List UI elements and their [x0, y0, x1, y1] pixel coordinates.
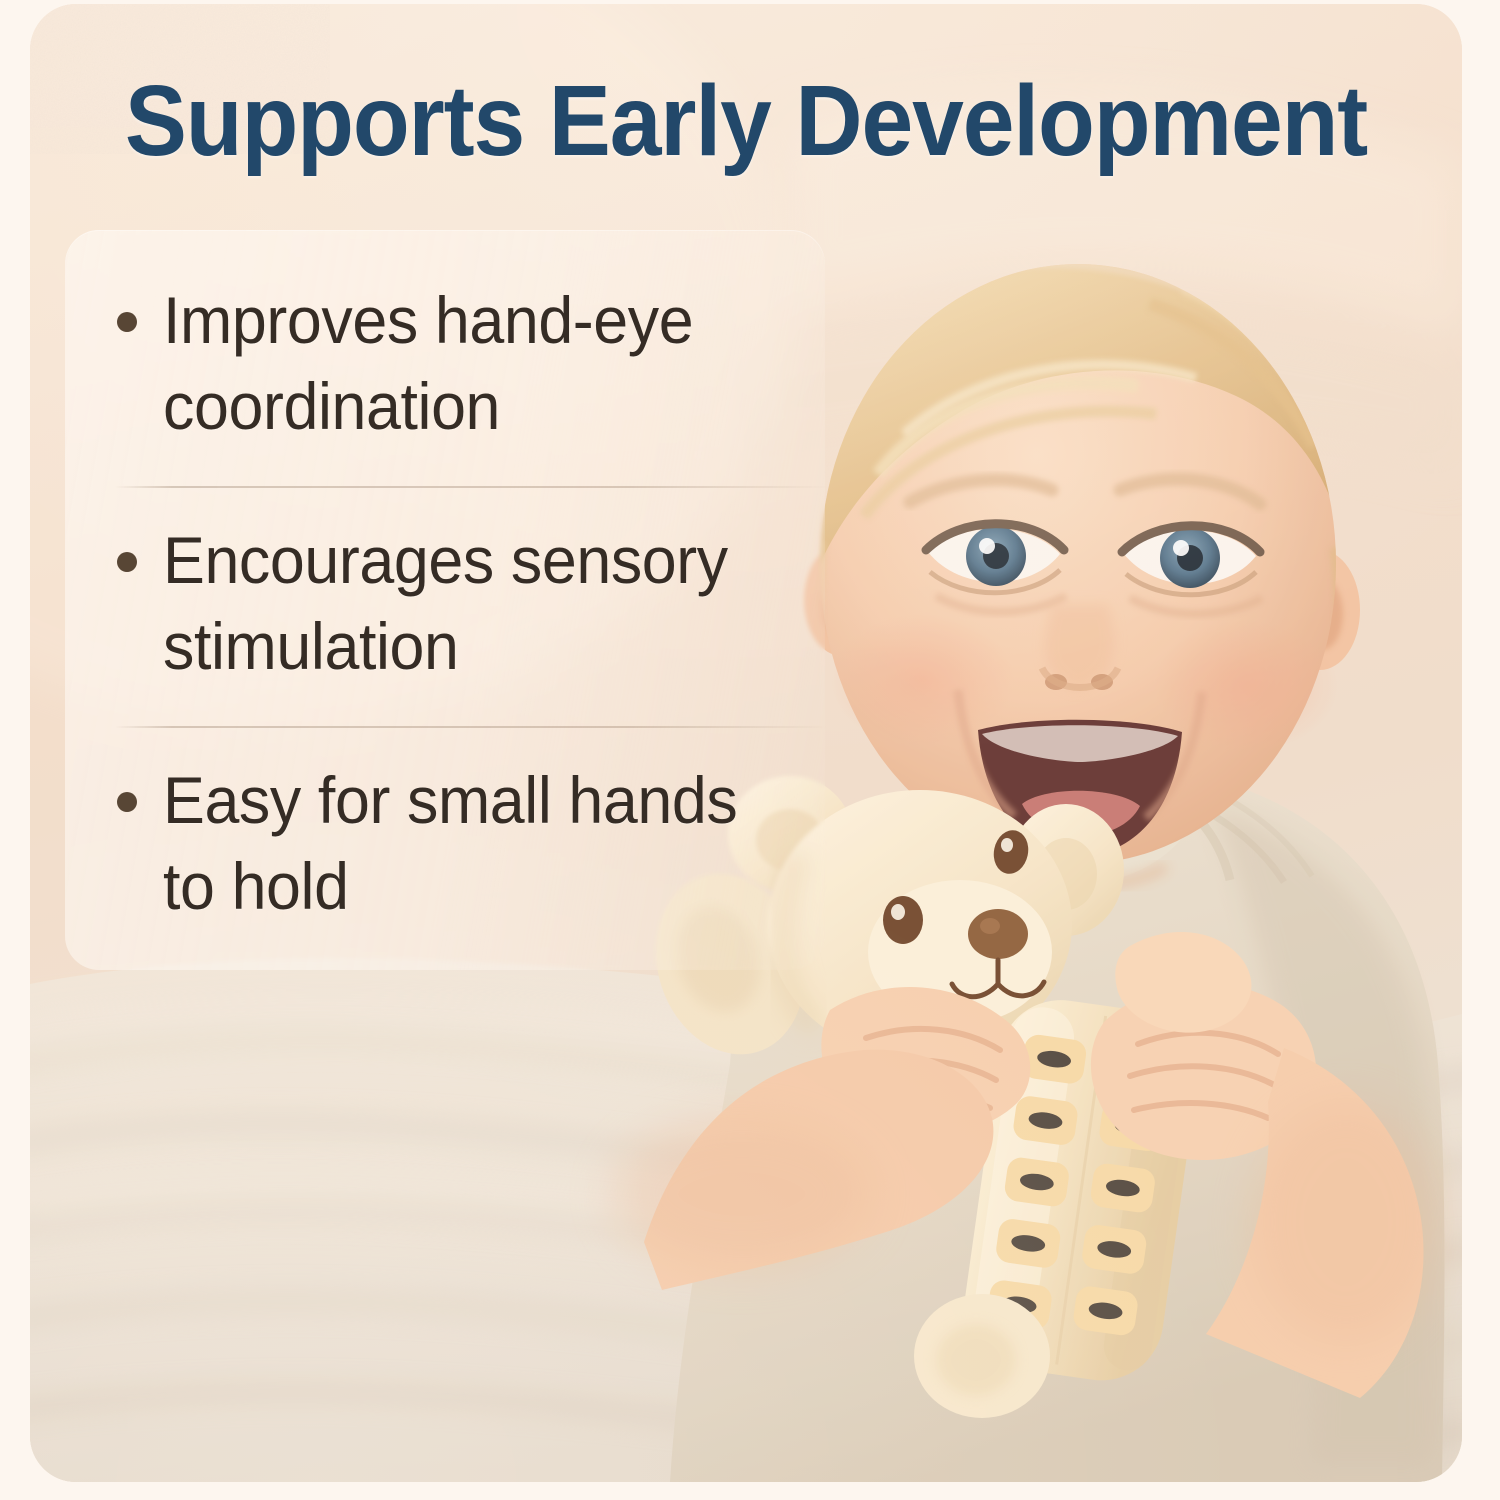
benefit-item-grip: Easy for small hands to hold	[117, 758, 817, 930]
poster-stage: Supports Early Development Improves hand…	[0, 0, 1500, 1500]
product-card: Supports Early Development Improves hand…	[30, 4, 1462, 1482]
benefit-divider	[115, 726, 827, 728]
bullet-icon	[117, 552, 137, 572]
benefit-divider	[115, 486, 827, 488]
bullet-icon	[117, 312, 137, 332]
benefit-item-sensory: Encourages sensory stimulation	[117, 518, 817, 690]
benefit-label: Improves hand-eye coordination	[163, 278, 784, 450]
benefits-list: Improves hand-eye coordination Encourage…	[65, 230, 845, 970]
page-title: Supports Early Development	[80, 70, 1412, 172]
benefit-item-hand-eye: Improves hand-eye coordination	[117, 278, 817, 450]
bullet-icon	[117, 792, 137, 812]
benefit-label: Encourages sensory stimulation	[163, 518, 784, 690]
benefit-label: Easy for small hands to hold	[163, 758, 784, 930]
